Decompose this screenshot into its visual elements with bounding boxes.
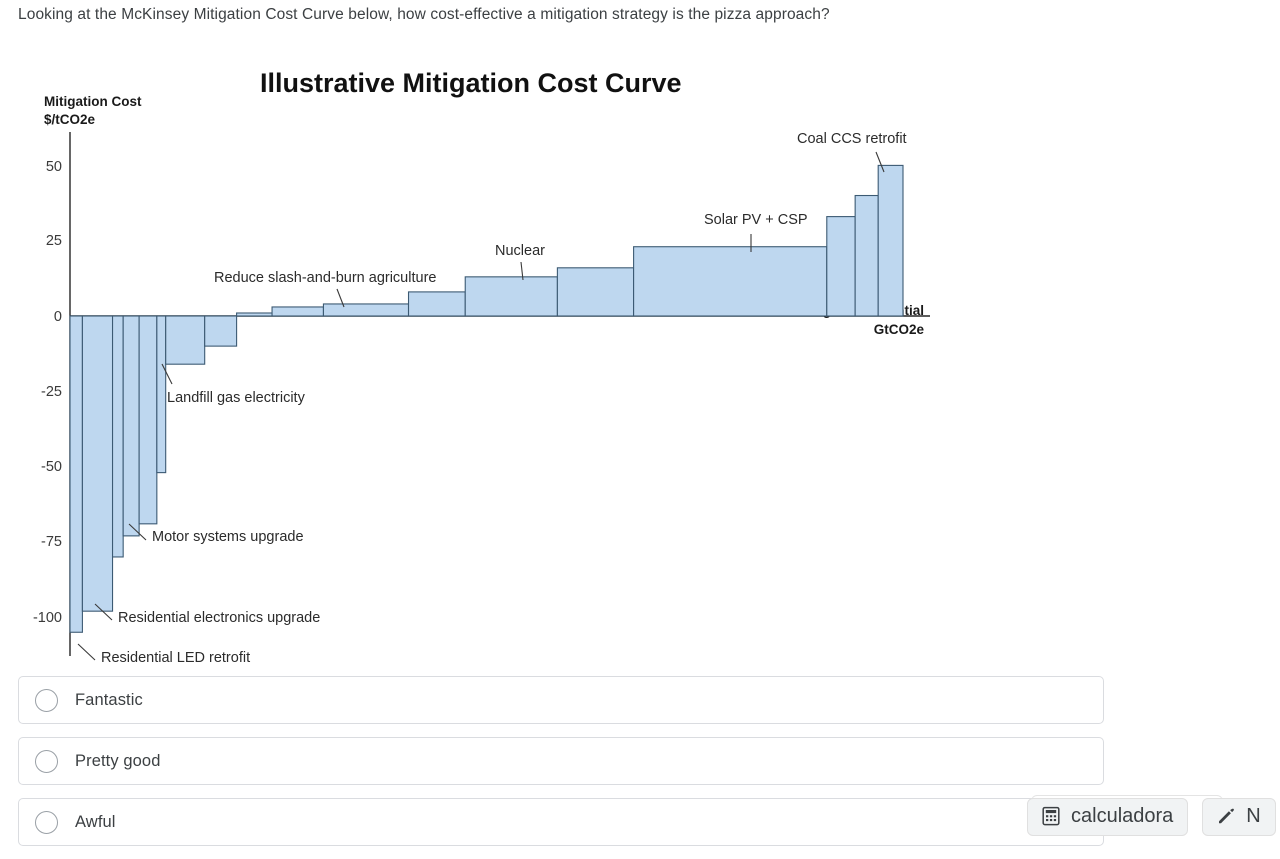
annotation-residential-led-retrofit: Residential LED retrofit	[101, 650, 250, 666]
chart-title: Illustrative Mitigation Cost Curve	[260, 68, 682, 98]
leader-residential-led	[78, 644, 95, 660]
bar-18	[878, 165, 903, 316]
bar-16	[827, 217, 855, 316]
annotation-nuclear: Nuclear	[495, 243, 545, 259]
radio-pretty-good[interactable]	[35, 750, 58, 773]
option-label-awful: Awful	[75, 813, 116, 832]
calculator-button-label: calculadora	[1071, 805, 1173, 828]
annotation-residential-electronics-upgrade: Residential electronics upgrade	[118, 610, 320, 626]
pencil-icon	[1216, 806, 1236, 826]
option-label-fantastic: Fantastic	[75, 691, 143, 710]
chart-svg: Illustrative Mitigation Cost Curve Mitig…	[0, 44, 980, 674]
bar-5	[139, 316, 157, 524]
annotation-reduce-slash-and-burn: Reduce slash-and-burn agriculture	[214, 270, 436, 286]
annotation-motor-systems-upgrade: Motor systems upgrade	[152, 529, 304, 545]
bar-13	[465, 277, 557, 316]
bar-8	[205, 316, 237, 346]
annotation-solar-pv-csp: Solar PV + CSP	[704, 212, 808, 228]
y-axis-units: $/tCO2e	[44, 112, 96, 127]
bottom-toolbar: calculadora N	[1027, 798, 1276, 836]
bar-3	[113, 316, 124, 557]
option-label-pretty-good: Pretty good	[75, 752, 161, 771]
radio-fantastic[interactable]	[35, 689, 58, 712]
option-row-awful[interactable]: Awful	[18, 798, 1104, 846]
y-tick-50: 50	[46, 159, 62, 175]
bar-9	[237, 313, 272, 316]
annotation-coal-ccs-retrofit: Coal CCS retrofit	[797, 131, 907, 147]
question-prompt: Looking at the McKinsey Mitigation Cost …	[18, 4, 1258, 26]
bar-7	[166, 316, 205, 364]
bar-6	[157, 316, 166, 473]
bar-17	[855, 196, 878, 316]
bar-10	[272, 307, 323, 316]
mitigation-cost-curve-chart: Illustrative Mitigation Cost Curve Mitig…	[0, 44, 980, 674]
notes-button-label: N	[1246, 805, 1260, 828]
bar-12	[409, 292, 466, 316]
bar-4	[123, 316, 139, 536]
calculator-button[interactable]: calculadora	[1027, 798, 1188, 836]
bar-15	[634, 247, 827, 316]
calculator-icon	[1041, 806, 1061, 826]
option-row-pretty-good[interactable]: Pretty good	[18, 737, 1104, 785]
y-tick-0: 0	[54, 309, 62, 325]
y-tick-neg100: -100	[33, 610, 62, 626]
radio-awful[interactable]	[35, 811, 58, 834]
bar-1	[70, 316, 82, 632]
y-tick-neg75: -75	[41, 534, 62, 550]
bar-11	[323, 304, 408, 316]
notes-button[interactable]: N	[1202, 798, 1275, 836]
annotation-landfill-gas-electricity: Landfill gas electricity	[167, 390, 306, 406]
y-axis-title: Mitigation Cost	[44, 94, 142, 109]
x-axis-units: GtCO2e	[874, 322, 925, 337]
y-tick-neg50: -50	[41, 459, 62, 475]
y-tick-neg25: -25	[41, 384, 62, 400]
answer-options-list: Fantastic Pretty good Awful	[18, 676, 1104, 859]
option-row-fantastic[interactable]: Fantastic	[18, 676, 1104, 724]
bar-14	[557, 268, 633, 316]
y-tick-25: 25	[46, 233, 62, 249]
bar-2	[82, 316, 112, 611]
